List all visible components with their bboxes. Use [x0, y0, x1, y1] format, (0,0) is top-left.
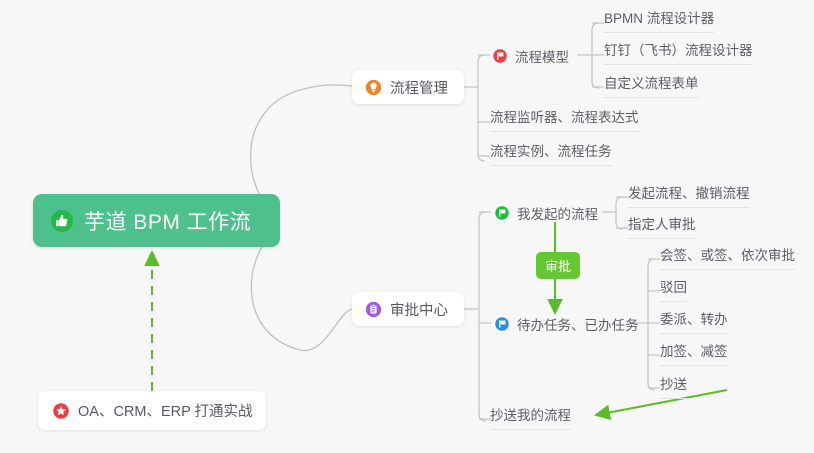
leaf-custom-process-form[interactable]: 自定义流程表单	[604, 76, 699, 98]
leaf-add-remove-sign[interactable]: 加签、减签	[660, 344, 728, 366]
leaf-assignee-approval[interactable]: 指定人审批	[628, 217, 696, 239]
star-icon	[52, 402, 70, 420]
spine-approval-center	[479, 212, 486, 421]
label-todo-done-tasks: 待办任务、已办任务	[517, 314, 639, 334]
leaf-process-listener-expression[interactable]: 流程监听器、流程表达式	[490, 110, 639, 132]
spine-process-model	[592, 23, 599, 88]
leaf-carbon-copy[interactable]: 抄送	[660, 377, 687, 399]
root-node[interactable]: 芋道 BPM 工作流	[33, 194, 280, 247]
branch-label-approval-center: 审批中心	[390, 299, 448, 320]
flag-icon	[492, 48, 508, 64]
node-todo-done-tasks[interactable]: 待办任务、已办任务	[494, 314, 639, 334]
leaf-cc-my-flow[interactable]: 抄送我的流程	[490, 408, 571, 430]
callout-node-integration[interactable]: OA、CRM、ERP 打通实战	[38, 391, 266, 430]
branch-node-process-management[interactable]: 流程管理	[352, 70, 464, 104]
spine-my-flow	[616, 197, 623, 229]
spine-todo	[648, 259, 655, 390]
mindmap-canvas: 芋道 BPM 工作流 流程管理 审批中心	[0, 0, 814, 453]
lightbulb-icon	[365, 79, 382, 96]
flag-icon	[494, 205, 510, 221]
label-my-initiated-flow: 我发起的流程	[517, 203, 598, 223]
node-my-initiated-flow[interactable]: 我发起的流程	[494, 203, 598, 223]
flag-icon	[494, 316, 510, 332]
leaf-countersign[interactable]: 会签、或签、依次审批	[660, 248, 795, 270]
spine-process-management	[478, 55, 485, 161]
node-process-model[interactable]: 流程模型	[492, 46, 569, 66]
leaf-reject[interactable]: 驳回	[660, 280, 687, 302]
thumbs-up-icon	[50, 209, 74, 233]
leaf-dingtalk-designer[interactable]: 钉钉（飞书）流程设计器	[604, 43, 753, 65]
leaf-start-cancel-flow[interactable]: 发起流程、撤销流程	[628, 186, 750, 208]
branch-node-approval-center[interactable]: 审批中心	[352, 292, 464, 326]
root-label: 芋道 BPM 工作流	[84, 206, 251, 236]
label-process-model: 流程模型	[515, 46, 569, 66]
branch-label-process-management: 流程管理	[390, 77, 448, 98]
leaf-bpmn-designer[interactable]: BPMN 流程设计器	[604, 11, 714, 33]
approval-badge[interactable]: 审批	[536, 252, 580, 279]
leaf-process-instance-task[interactable]: 流程实例、流程任务	[490, 144, 612, 166]
leaf-delegate-transfer[interactable]: 委派、转办	[660, 312, 728, 334]
clipboard-icon	[365, 301, 382, 318]
callout-label: OA、CRM、ERP 打通实战	[78, 400, 253, 421]
